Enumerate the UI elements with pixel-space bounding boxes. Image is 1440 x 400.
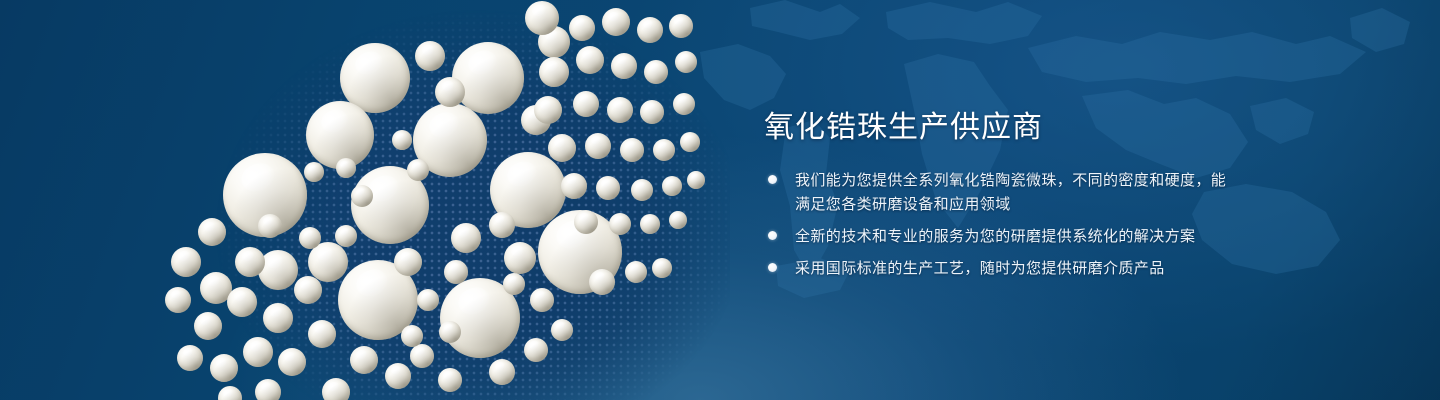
ceramic-bead [504,242,536,274]
ceramic-bead [609,213,631,235]
ceramic-bead [235,247,265,277]
ceramic-bead [435,77,465,107]
ceramic-bead [210,354,238,382]
ceramic-bead [401,325,423,347]
ceramic-bead [669,211,687,229]
ceramic-bead [675,51,697,73]
ceramic-bead [631,179,653,201]
ceramic-bead [524,338,548,362]
ceramic-bead [611,53,637,79]
page-title: 氧化锆珠生产供应商 [764,110,1043,146]
ceramic-bead [653,139,675,161]
ceramic-bead [258,214,282,238]
ceramic-bead [452,42,524,114]
hero-banner: 氧化锆珠生产供应商 我们能为您提供全系列氧化锆陶瓷微珠，不同的密度和硬度，能满足… [0,0,1440,400]
banner-copy: 氧化锆珠生产供应商 我们能为您提供全系列氧化锆陶瓷微珠，不同的密度和硬度，能满足… [764,0,1364,400]
ceramic-bead [171,247,201,277]
list-item: 全新的技术和专业的服务为您的研磨提供系统化的解决方案 [766,225,1236,249]
ceramic-bead [640,214,660,234]
ceramic-bead [551,319,573,341]
ceramic-bead [444,260,468,284]
ceramic-bead [530,288,554,312]
ceramic-bead [576,46,604,74]
ceramic-bead [255,379,281,400]
ceramic-bead [198,218,226,246]
ceramic-bead [561,173,587,199]
ceramic-bead [336,158,356,178]
ceramic-bead [652,258,672,278]
ceramic-bead [385,363,411,389]
ceramic-bead [640,100,664,124]
ceramic-bead [410,344,434,368]
ceramic-bead [573,91,599,117]
ceramic-bead [278,348,306,376]
ceramic-bead [662,176,682,196]
ceramic-bead [644,60,668,84]
ceramic-bead [602,8,630,36]
ceramic-bead [438,368,462,392]
ceramic-bead [417,289,439,311]
ceramic-bead [687,171,705,189]
list-item-label: 采用国际标准的生产工艺，随时为您提供研磨介质产品 [795,260,1165,277]
ceramic-bead [534,96,562,124]
bead-cluster [150,0,730,400]
ceramic-bead [322,378,350,400]
ceramic-bead [574,210,598,234]
ceramic-bead [489,359,515,385]
ceramic-bead [177,345,203,371]
ceramic-bead [304,162,324,182]
ceramic-bead [569,15,595,41]
ceramic-bead [451,223,481,253]
ceramic-bead [263,303,293,333]
list-item-label: 全新的技术和专业的服务为您的研磨提供系统化的解决方案 [795,228,1195,245]
ceramic-bead [596,176,620,200]
ceramic-bead [673,93,695,115]
ceramic-bead [165,287,191,313]
ceramic-bead [308,320,336,348]
ceramic-bead [680,132,700,152]
list-item-label: 我们能为您提供全系列氧化锆陶瓷微珠，不同的密度和硬度，能满足您各类研磨设备和应用… [795,172,1226,213]
ceramic-bead [407,159,429,181]
zirconia-beads-photo [150,0,730,400]
ceramic-bead [525,1,559,35]
ceramic-bead [589,269,615,295]
ceramic-bead [351,185,373,207]
ceramic-bead [194,312,222,340]
ceramic-bead [243,337,273,367]
ceramic-bead [227,287,257,317]
ceramic-bead [294,276,322,304]
bullet-dot-icon [768,231,777,240]
ceramic-bead [350,346,378,374]
ceramic-bead [637,17,663,43]
ceramic-bead [548,134,576,162]
ceramic-bead [585,133,611,159]
list-item: 采用国际标准的生产工艺，随时为您提供研磨介质产品 [766,257,1236,281]
ceramic-bead [392,130,412,150]
ceramic-bead [669,14,693,38]
ceramic-bead [607,97,633,123]
ceramic-bead [503,273,525,295]
ceramic-bead [415,41,445,71]
ceramic-bead [620,138,644,162]
ceramic-bead [539,57,569,87]
ceramic-bead [299,227,321,249]
ceramic-bead [625,261,647,283]
ceramic-bead [394,248,422,276]
bullet-dot-icon [768,175,777,184]
list-item: 我们能为您提供全系列氧化锆陶瓷微珠，不同的密度和硬度，能满足您各类研磨设备和应用… [766,169,1236,217]
ceramic-bead [439,321,461,343]
ceramic-bead [489,212,515,238]
bullet-dot-icon [768,263,777,272]
feature-list: 我们能为您提供全系列氧化锆陶瓷微珠，不同的密度和硬度，能满足您各类研磨设备和应用… [766,169,1236,289]
ceramic-bead [218,386,242,400]
ceramic-bead [335,225,357,247]
